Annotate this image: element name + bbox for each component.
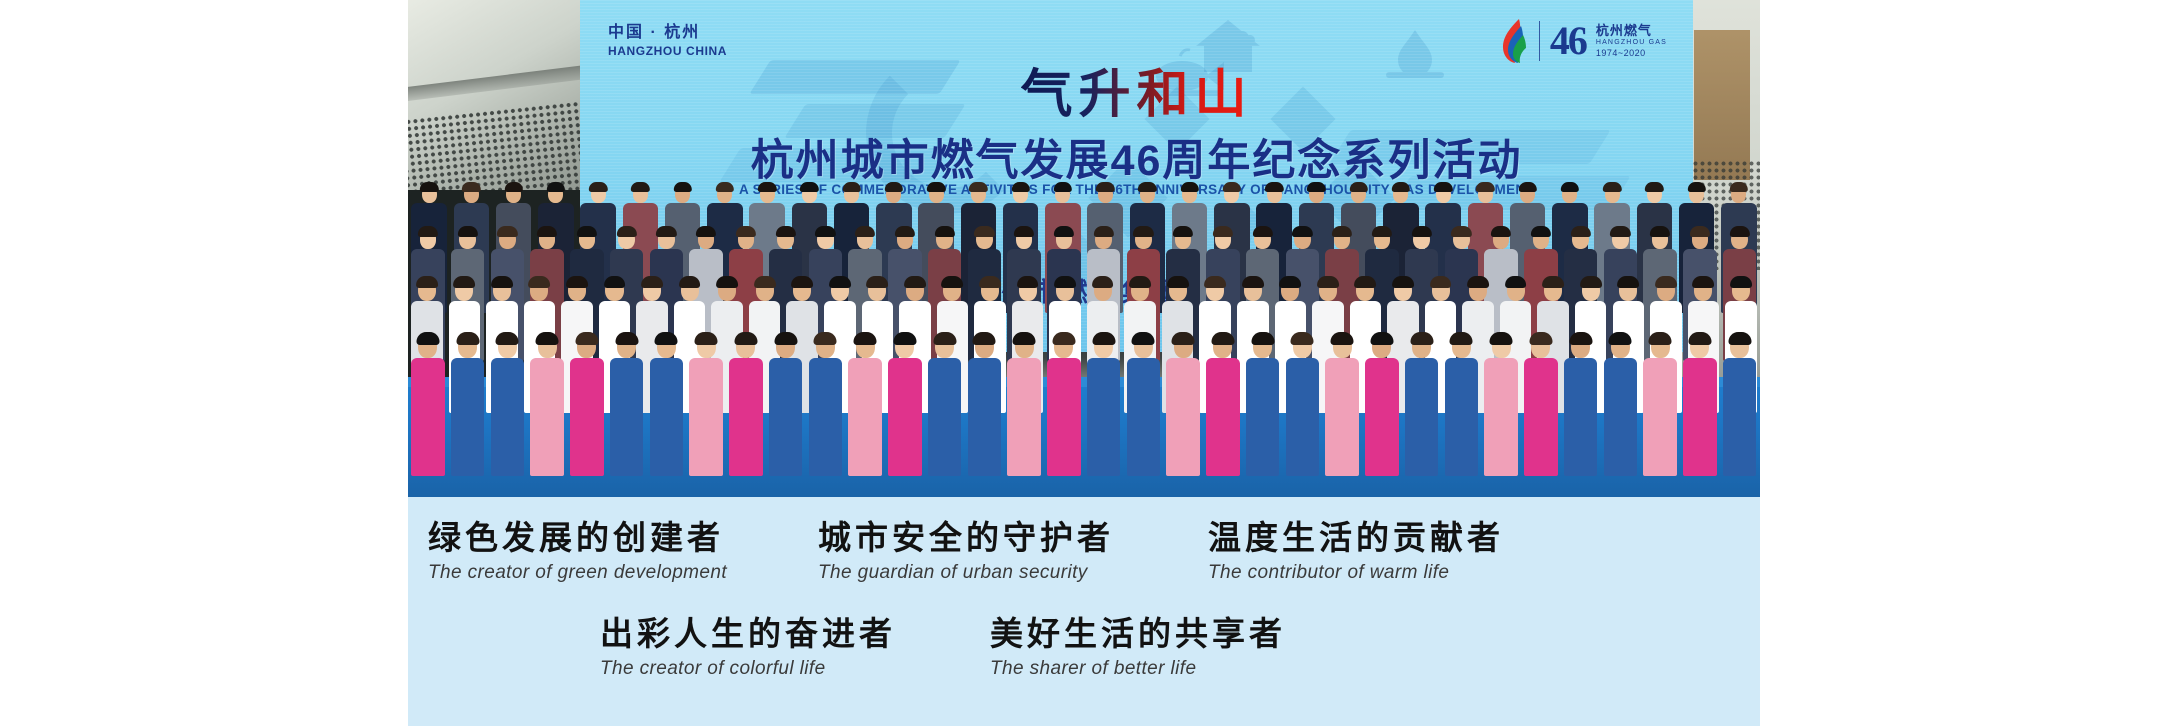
slogan-en: The creator of green development xyxy=(428,562,818,584)
slogan-en: The sharer of better life xyxy=(990,658,1380,680)
poster-content: 中国 · 杭州 HANGZHOU CHINA 46 杭州燃气 HANGZHOU … xyxy=(408,0,1760,726)
person xyxy=(1084,335,1124,476)
person xyxy=(1640,335,1680,476)
slogan-en: The guardian of urban security xyxy=(818,562,1208,584)
poster-stage: 中国 · 杭州 HANGZHOU CHINA 46 杭州燃气 HANGZHOU … xyxy=(0,0,2179,726)
person xyxy=(1720,335,1760,476)
logo-divider xyxy=(1539,21,1540,61)
person xyxy=(647,335,687,476)
slogan-en: The creator of colorful life xyxy=(600,658,990,680)
person xyxy=(1322,335,1362,476)
company-name-cn: 杭州燃气 xyxy=(1596,23,1667,39)
person xyxy=(686,335,726,476)
brand-mark: 气升和山 xyxy=(1020,52,1252,127)
slogan-item: 美好生活的共享者 The sharer of better life xyxy=(990,615,1380,680)
person xyxy=(567,335,607,476)
slogan-item: 出彩人生的奋进者 The creator of colorful life xyxy=(600,615,990,680)
person xyxy=(965,335,1005,476)
crowd-row xyxy=(408,335,1760,476)
slogan-cn: 美好生活的共享者 xyxy=(990,615,1380,653)
person xyxy=(1362,335,1402,476)
slogan-cn: 城市安全的守护者 xyxy=(818,519,1208,557)
person xyxy=(408,335,448,476)
person xyxy=(488,335,528,476)
person xyxy=(1561,335,1601,476)
slogan-item: 城市安全的守护者 The guardian of urban security xyxy=(818,519,1208,584)
person xyxy=(1521,335,1561,476)
person xyxy=(766,335,806,476)
person xyxy=(1601,335,1641,476)
person xyxy=(448,335,488,476)
slogan-item: 绿色发展的创建者 The creator of green developmen… xyxy=(428,519,818,584)
person xyxy=(527,335,567,476)
slogan-en: The contributor of warm life xyxy=(1208,562,1598,584)
person xyxy=(885,335,925,476)
slogan-cn: 绿色发展的创建者 xyxy=(428,519,818,557)
person xyxy=(1481,335,1521,476)
person xyxy=(1163,335,1203,476)
logo-text-block: 杭州燃气 HANGZHOU GAS 1974~2020 xyxy=(1596,23,1667,59)
location-en: HANGZHOU CHINA xyxy=(608,44,727,58)
person xyxy=(1044,335,1084,476)
person xyxy=(1124,335,1164,476)
slogan-item: 温度生活的贡献者 The contributor of warm life xyxy=(1208,519,1598,584)
slogan-cn: 温度生活的贡献者 xyxy=(1208,519,1598,557)
person xyxy=(1680,335,1720,476)
wood-door xyxy=(1694,30,1750,180)
person xyxy=(1004,335,1044,476)
anniversary-number: 46 xyxy=(1550,21,1586,61)
company-name-en: HANGZHOU GAS xyxy=(1596,39,1667,48)
person xyxy=(1203,335,1243,476)
logo-years: 1974~2020 xyxy=(1596,48,1667,59)
anniversary-logo: 46 杭州燃气 HANGZHOU GAS 1974~2020 xyxy=(1499,18,1667,64)
person xyxy=(925,335,965,476)
person xyxy=(1402,335,1442,476)
person xyxy=(1283,335,1323,476)
person xyxy=(726,335,766,476)
person xyxy=(1442,335,1482,476)
crowd-of-people xyxy=(408,167,1760,497)
flame-icon xyxy=(1499,18,1529,64)
person xyxy=(845,335,885,476)
slogan-panel: 绿色发展的创建者 The creator of green developmen… xyxy=(408,497,1760,726)
person xyxy=(1243,335,1283,476)
person xyxy=(806,335,846,476)
location-cn: 中国 · 杭州 xyxy=(608,22,727,44)
person xyxy=(607,335,647,476)
banner-location: 中国 · 杭州 HANGZHOU CHINA xyxy=(608,22,727,58)
slogan-cn: 出彩人生的奋进者 xyxy=(600,615,990,653)
group-photo: 中国 · 杭州 HANGZHOU CHINA 46 杭州燃气 HANGZHOU … xyxy=(408,0,1760,497)
